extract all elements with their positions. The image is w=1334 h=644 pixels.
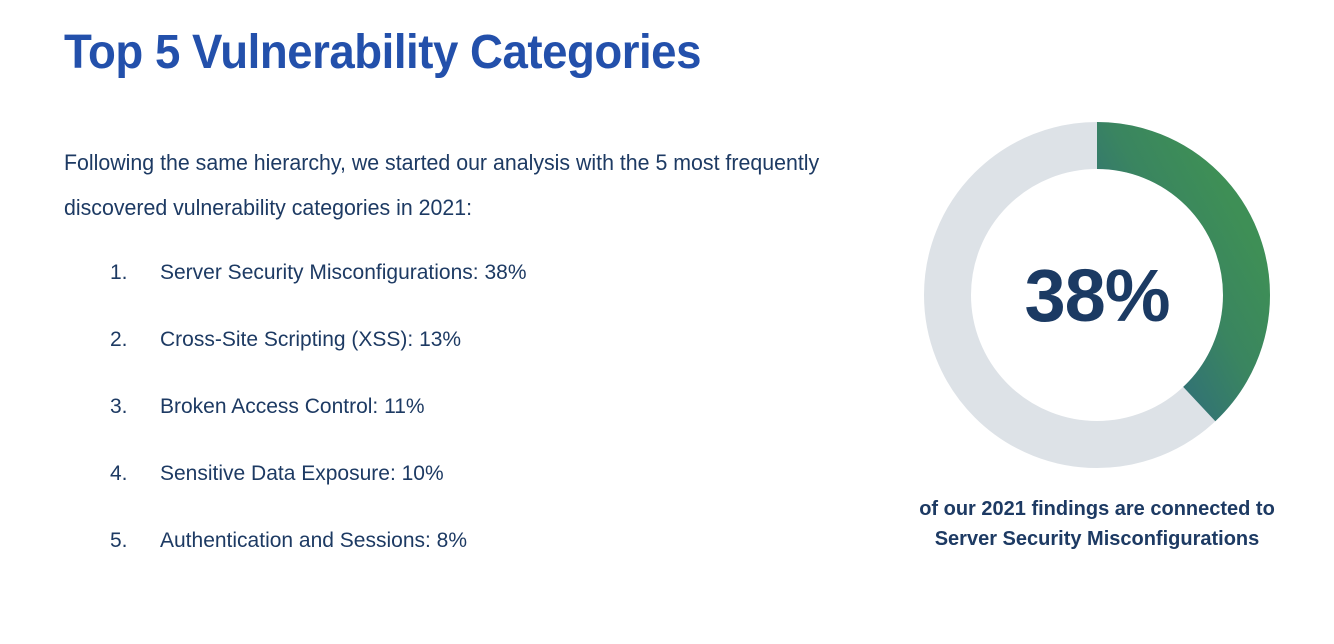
vulnerability-list: 1. Server Security Misconfigurations: 38… <box>64 255 864 590</box>
list-item-label: Broken Access Control: 11% <box>160 389 425 425</box>
donut-panel: 38% of our 2021 findings are connected t… <box>924 0 1334 644</box>
list-item: 4. Sensitive Data Exposure: 10% <box>64 456 864 523</box>
list-item-number: 5. <box>110 523 144 559</box>
list-item: 3. Broken Access Control: 11% <box>64 389 864 456</box>
page-title: Top 5 Vulnerability Categories <box>64 24 701 82</box>
donut-caption: of our 2021 findings are connected to Se… <box>916 494 1278 554</box>
intro-paragraph: Following the same hierarchy, we started… <box>64 140 898 230</box>
list-item-label: Authentication and Sessions: 8% <box>160 523 467 559</box>
list-item: 1. Server Security Misconfigurations: 38… <box>64 255 864 322</box>
list-item-label: Sensitive Data Exposure: 10% <box>160 456 444 492</box>
list-item: 5. Authentication and Sessions: 8% <box>64 523 864 590</box>
list-item-number: 3. <box>110 389 144 425</box>
list-item-number: 2. <box>110 322 144 358</box>
list-item-number: 4. <box>110 456 144 492</box>
list-item-label: Cross-Site Scripting (XSS): 13% <box>160 322 461 358</box>
donut-chart <box>924 122 1270 468</box>
list-item-number: 1. <box>110 255 144 291</box>
content-column: Top 5 Vulnerability Categories Following… <box>64 0 924 644</box>
list-item: 2. Cross-Site Scripting (XSS): 13% <box>64 322 864 389</box>
list-item-label: Server Security Misconfigurations: 38% <box>160 255 527 291</box>
